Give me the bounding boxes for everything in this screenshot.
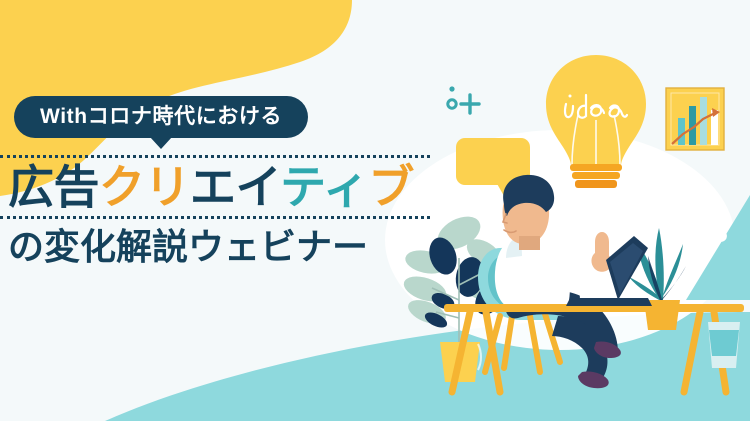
headline-line2: 広告クリエイティブ — [8, 158, 430, 216]
headline-seg-1: 広告 — [8, 161, 99, 213]
webinar-banner: Withコロナ時代における 広告クリエイティブ の変化解説ウェビナー — [0, 0, 750, 421]
badge-tail-triangle — [150, 137, 172, 149]
headline-seg-2: クリ — [99, 161, 190, 213]
headline-seg-3: エイ — [190, 161, 280, 213]
white-halo — [385, 130, 735, 350]
headline-block: Withコロナ時代における 広告クリエイティブ の変化解説ウェビナー — [0, 96, 430, 268]
headline-seg-4: ティ — [280, 161, 368, 213]
headline-seg-5: ブ — [368, 161, 414, 213]
badge-pill: Withコロナ時代における — [14, 96, 308, 138]
headline-line2-wrapper: 広告クリエイティブ — [0, 155, 430, 219]
badge-label: Withコロナ時代における — [40, 105, 282, 128]
headline-line3: の変化解説ウェビナー — [0, 219, 430, 268]
